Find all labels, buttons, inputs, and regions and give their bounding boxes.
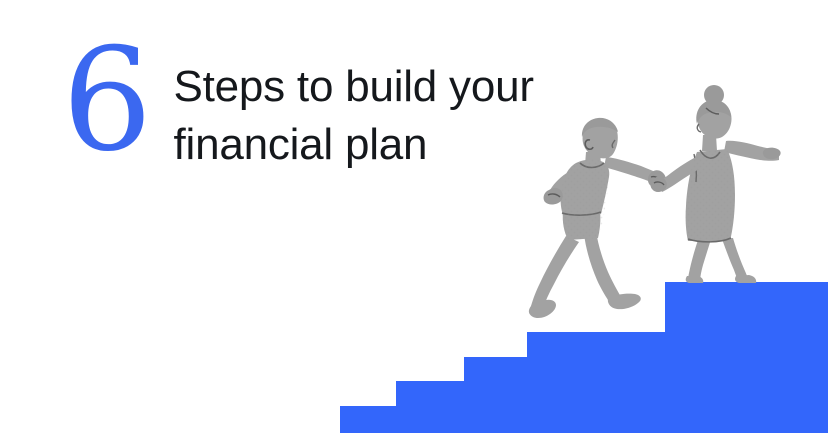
man-back-leg bbox=[531, 236, 579, 311]
man-texture bbox=[561, 159, 609, 240]
woman-hair-bun bbox=[704, 85, 724, 105]
woman-helping-figure bbox=[651, 85, 781, 283]
man-climbing-figure bbox=[529, 118, 666, 318]
slide-canvas: 6 Steps to build your financial plan bbox=[0, 0, 828, 433]
man-front-leg bbox=[584, 231, 621, 303]
woman-front-foot bbox=[735, 275, 756, 283]
woman-back-foot bbox=[686, 276, 704, 283]
people-illustration bbox=[0, 0, 828, 433]
